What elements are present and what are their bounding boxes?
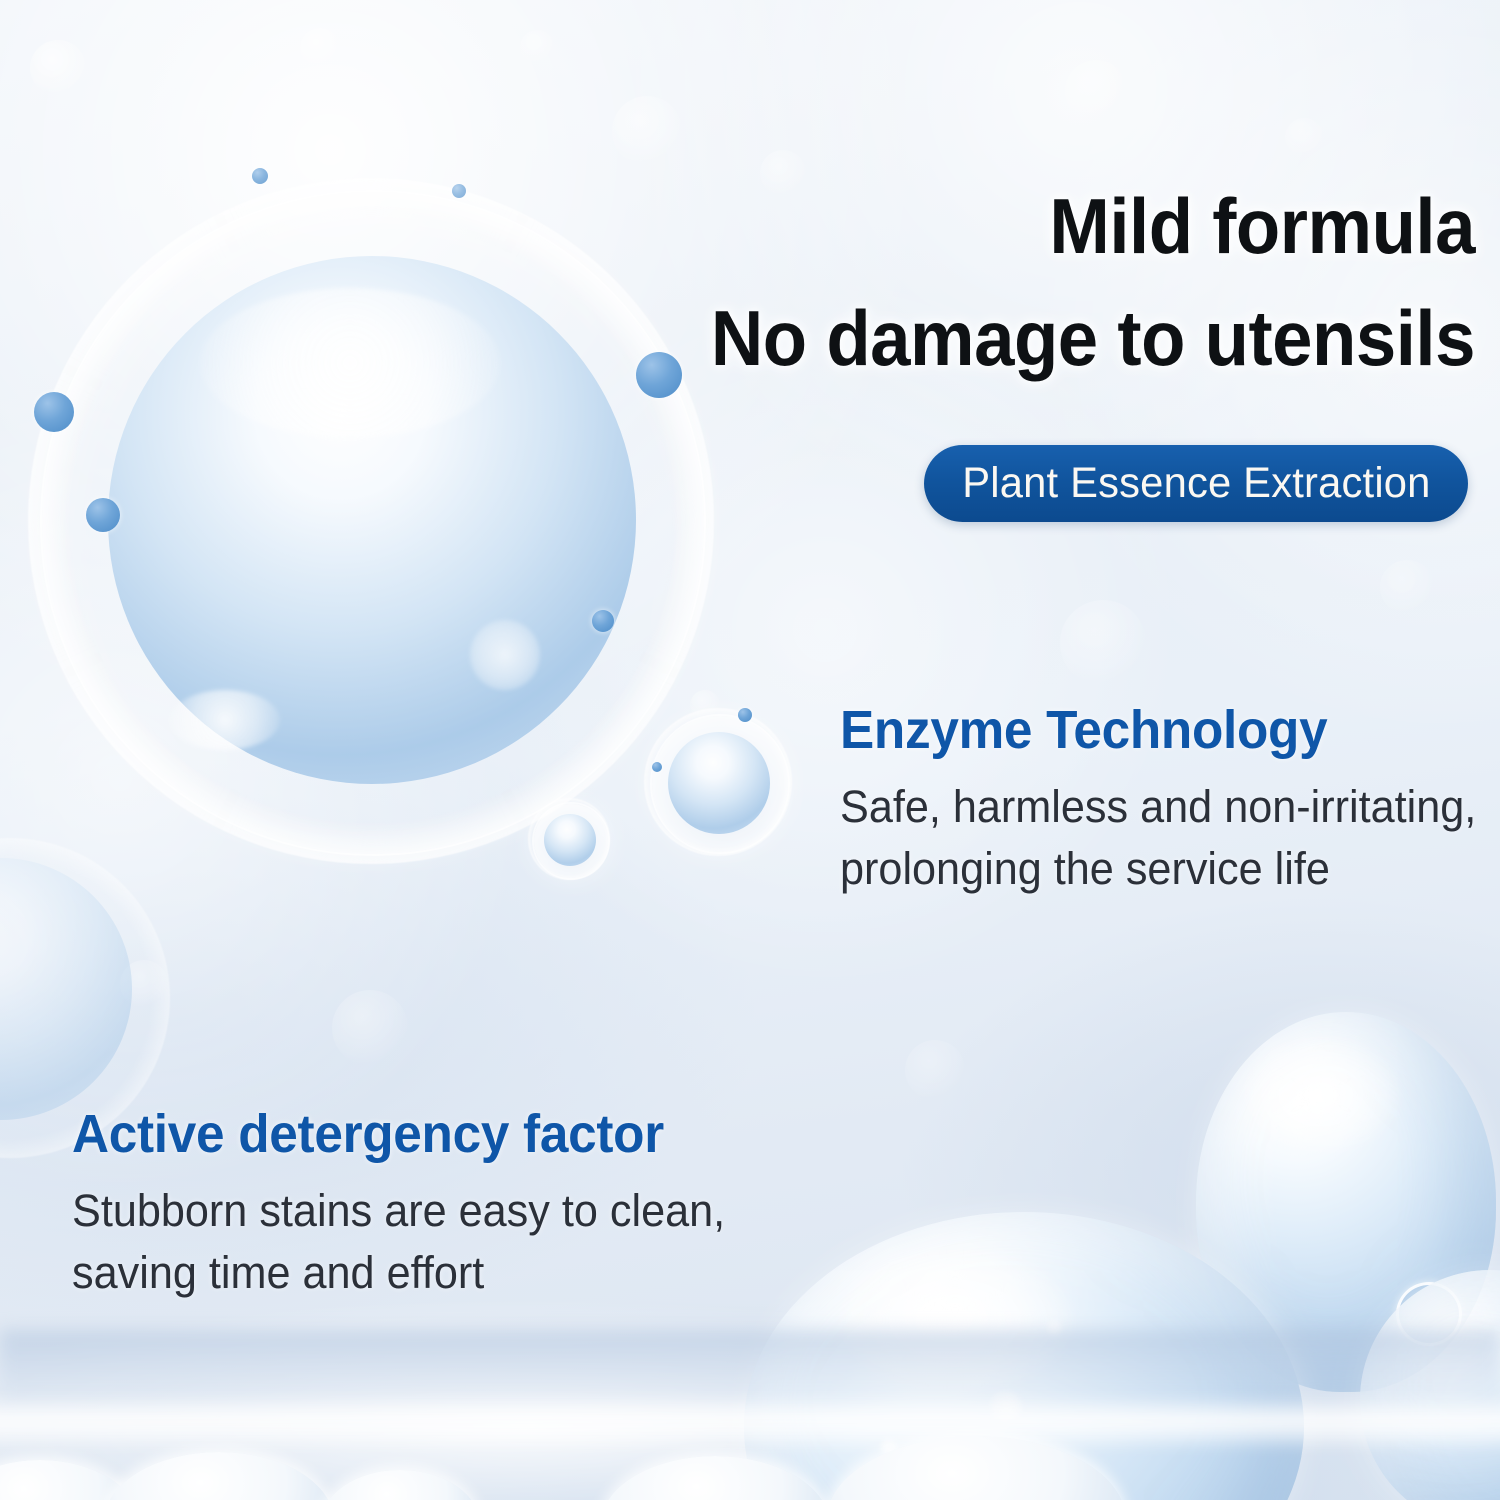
feature-title: Active detergency factor [72,1104,718,1164]
feature-body: Safe, harmless and non-irritating, prolo… [840,776,1476,900]
feature-body: Stubborn stains are easy to clean, savin… [72,1180,725,1304]
badge-label: Plant Essence Extraction [962,459,1430,508]
light-streak [0,1395,1500,1451]
feature-body-line-1: Stubborn stains are easy to clean, [72,1180,725,1242]
bubble-droplet [592,610,614,632]
feature-body-line-2: saving time and effort [72,1242,725,1304]
bubble-droplet [34,392,74,432]
headline-line-2: No damage to utensils [452,282,1475,394]
headline-line-1: Mild formula [452,170,1475,282]
bubble-core [668,732,770,834]
product-feature-poster: Mild formula No damage to utensils Plant… [0,0,1500,1500]
bubble-droplet [86,498,120,532]
feature-title: Enzyme Technology [840,700,1470,760]
plant-essence-badge[interactable]: Plant Essence Extraction [924,445,1468,522]
sphere-highlight [1246,1040,1396,1150]
headline-block: Mild formula No damage to utensils [375,170,1475,394]
bubble-droplet [738,708,752,722]
feature-body-line-2: prolonging the service life [840,838,1476,900]
feature-body-line-1: Safe, harmless and non-irritating, [840,776,1476,838]
bubble-highlight [170,690,280,750]
feature-active-detergency-factor: Active detergency factor Stubborn stains… [72,1104,752,1304]
bubble-core [544,814,596,866]
feature-enzyme-technology: Enzyme Technology Safe, harmless and non… [840,700,1500,900]
bubble-droplet [252,168,268,184]
bubble-highlight [470,620,540,690]
bubble-droplet [652,762,662,772]
